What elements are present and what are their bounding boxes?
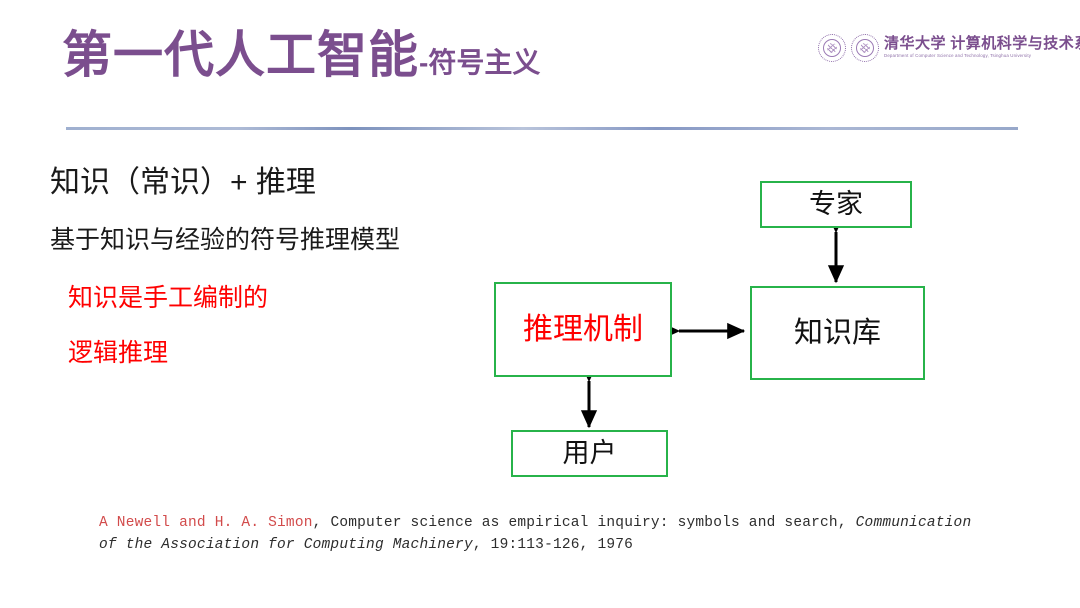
tsinghua-university-seal-icon <box>818 34 846 62</box>
institution-name-en: Department of Computer Science and Techn… <box>884 54 1080 58</box>
page-title: 第一代人工智能-符号主义 <box>62 30 540 80</box>
page-title-sub: -符号主义 <box>419 47 540 78</box>
diagram-node-user-label: 用户 <box>563 440 617 467</box>
citation-article-title: , Computer science as empirical inquiry:… <box>313 515 856 531</box>
citation-reference: A Newell and H. A. Simon, Computer scien… <box>99 512 979 556</box>
page-title-main: 第一代人工智能 <box>62 27 419 83</box>
diagram-node-expert-label: 专家 <box>809 191 863 218</box>
diagram-node-expert: 专家 <box>760 181 912 228</box>
department-seal-icon <box>851 34 879 62</box>
body-bullet-handcrafted-knowledge: 知识是手工编制的 <box>68 286 268 311</box>
diagram-node-inference-engine: 推理机制 <box>494 282 672 377</box>
slide-canvas: 第一代人工智能-符号主义 清华大学 计算机科学与技术系 Department o… <box>0 0 1080 608</box>
diagram-node-knowledge-base: 知识库 <box>750 286 925 380</box>
diagram-node-inference-engine-label: 推理机制 <box>523 315 643 345</box>
institution-logo-text: 清华大学 计算机科学与技术系 Department of Computer Sc… <box>884 37 1080 58</box>
institution-logo: 清华大学 计算机科学与技术系 Department of Computer Sc… <box>818 34 1080 62</box>
diagram-node-knowledge-base-label: 知识库 <box>794 319 881 348</box>
body-heading-knowledge-reasoning: 知识（常识）+ 推理 <box>50 168 316 198</box>
diagram-node-user: 用户 <box>511 430 668 477</box>
institution-name-cn: 清华大学 计算机科学与技术系 <box>884 37 1080 52</box>
body-subheading-symbolic-model: 基于知识与经验的符号推理模型 <box>50 228 400 253</box>
citation-authors: A Newell and H. A. Simon <box>99 515 313 531</box>
body-bullet-logical-reasoning: 逻辑推理 <box>68 341 168 366</box>
title-divider <box>66 127 1018 130</box>
citation-volume-pages-year: , 19:113-126, 1976 <box>473 537 633 553</box>
